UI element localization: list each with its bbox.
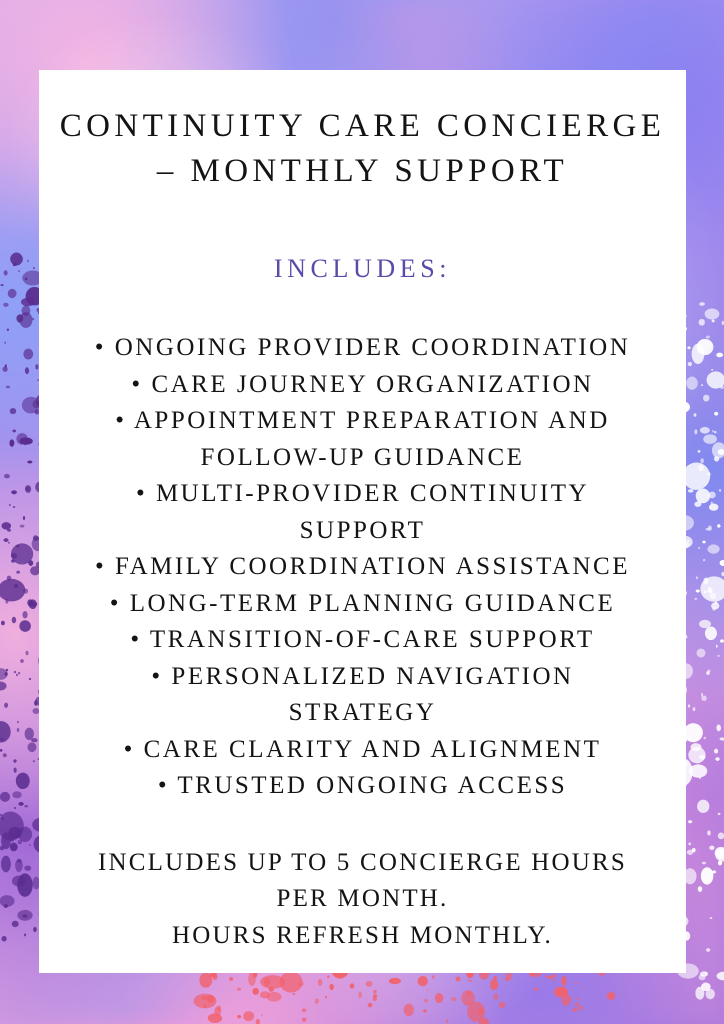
list-item-label: FAMILY COORDINATION ASSISTANCE	[115, 553, 630, 580]
list-item: • MULTI-PROVIDER CONTINUITYSUPPORT	[53, 476, 672, 549]
bullet-marker: •	[136, 480, 147, 507]
list-item-label: CARE JOURNEY ORGANIZATION	[151, 371, 593, 398]
content-card: CONTINUITY CARE CONCIERGE – MONTHLY SUPP…	[39, 70, 686, 973]
list-item: • LONG-TERM PLANNING GUIDANCE	[53, 586, 672, 623]
bullet-marker: •	[95, 553, 106, 580]
page-title-line-2: – MONTHLY SUPPORT	[57, 149, 668, 194]
list-item-label: TRUSTED ONGOING ACCESS	[177, 772, 567, 799]
list-item-label: MULTI-PROVIDER CONTINUITY	[156, 480, 589, 507]
includes-heading: INCLUDES:	[53, 252, 672, 286]
list-item-label-continued: SUPPORT	[59, 513, 666, 550]
bullet-marker: •	[130, 626, 141, 653]
list-item: • FAMILY COORDINATION ASSISTANCE	[53, 549, 672, 586]
list-item: • APPOINTMENT PREPARATION ANDFOLLOW-UP G…	[53, 403, 672, 476]
bullet-marker: •	[110, 590, 121, 617]
footer-line-1: INCLUDES UP TO 5 CONCIERGE HOURS	[53, 845, 672, 882]
list-item: • CARE CLARITY AND ALIGNMENT	[53, 732, 672, 769]
list-item-label: TRANSITION-OF-CARE SUPPORT	[150, 626, 595, 653]
poster-canvas: CONTINUITY CARE CONCIERGE – MONTHLY SUPP…	[0, 0, 724, 1024]
list-item: • ONGOING PROVIDER COORDINATION	[53, 330, 672, 367]
list-item: • CARE JOURNEY ORGANIZATION	[53, 367, 672, 404]
list-item: • TRUSTED ONGOING ACCESS	[53, 768, 672, 805]
list-item: • TRANSITION-OF-CARE SUPPORT	[53, 622, 672, 659]
footer-line-3: HOURS REFRESH MONTHLY.	[53, 918, 672, 955]
list-item: • PERSONALIZED NAVIGATIONSTRATEGY	[53, 659, 672, 732]
list-item-label: ONGOING PROVIDER COORDINATION	[115, 334, 631, 361]
list-item-label-continued: STRATEGY	[59, 695, 666, 732]
bullet-marker: •	[131, 371, 142, 398]
footer-line-2: PER MONTH.	[53, 881, 672, 918]
bullet-marker: •	[158, 772, 169, 799]
list-item-label: LONG-TERM PLANNING GUIDANCE	[130, 590, 616, 617]
bullet-marker: •	[115, 407, 126, 434]
list-item-label: PERSONALIZED NAVIGATION	[171, 663, 573, 690]
bullet-marker: •	[95, 334, 106, 361]
page-title: CONTINUITY CARE CONCIERGE – MONTHLY SUPP…	[53, 104, 672, 194]
footer-note: INCLUDES UP TO 5 CONCIERGE HOURS PER MON…	[53, 845, 672, 955]
bullet-marker: •	[151, 663, 162, 690]
list-item-label: APPOINTMENT PREPARATION AND	[134, 407, 610, 434]
bullet-marker: •	[124, 736, 135, 763]
inclusions-list: • ONGOING PROVIDER COORDINATION• CARE JO…	[53, 330, 672, 805]
page-title-line-1: CONTINUITY CARE CONCIERGE	[57, 104, 668, 149]
list-item-label: CARE CLARITY AND ALIGNMENT	[144, 736, 602, 763]
list-item-label-continued: FOLLOW-UP GUIDANCE	[59, 440, 666, 477]
